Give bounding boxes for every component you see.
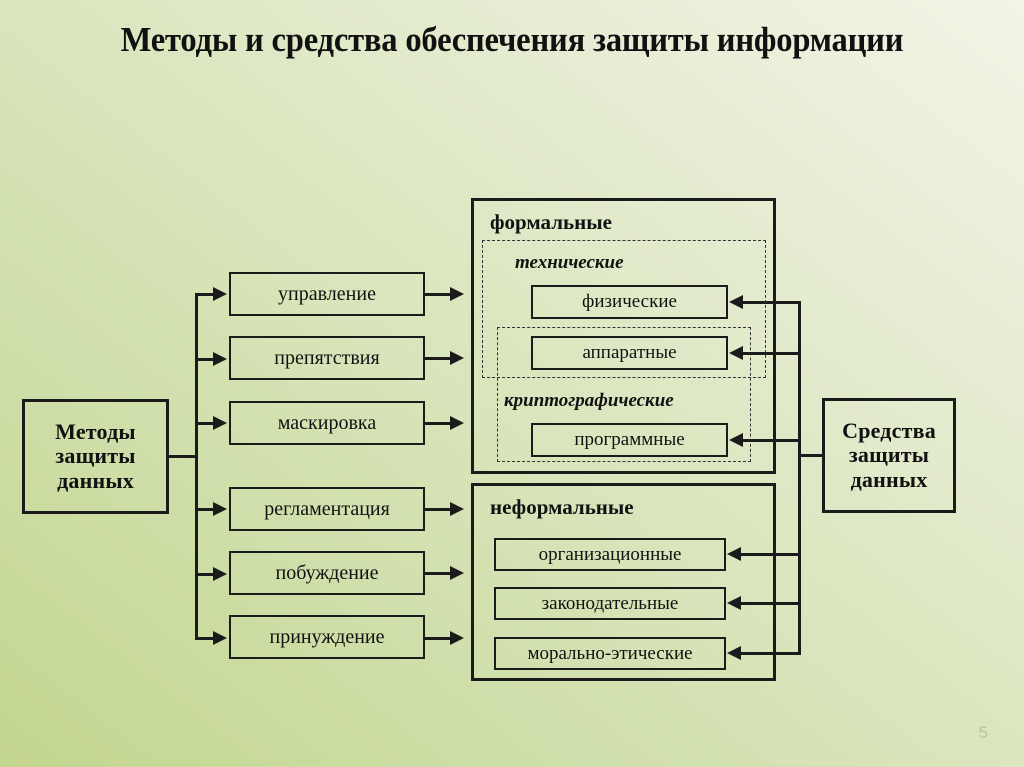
connector-right-branch-1: [742, 301, 800, 304]
arrow-right-branch-6-icon: [727, 646, 741, 660]
method-box-prepyatstviya[interactable]: препятствия: [229, 336, 425, 380]
slide-canvas: Методы и средства обеспечения защиты инф…: [0, 0, 1024, 767]
arrow-right-branch-4-icon: [727, 547, 741, 561]
connector-method-3-out: [425, 422, 453, 425]
leaf-box-moralno-eticheskie[interactable]: морально-этические: [494, 637, 726, 670]
arrow-right-branch-1-icon: [729, 295, 743, 309]
node-methods-of-data-protection[interactable]: Методы защиты данных: [22, 399, 169, 514]
connector-right-branch-3: [742, 439, 800, 442]
page-title: Методы и средства обеспечения защиты инф…: [73, 18, 951, 62]
leaf-box-zakonodatelnye[interactable]: законодательные: [494, 587, 726, 620]
connector-method-2-out: [425, 357, 453, 360]
arrow-method-1-icon: [450, 287, 464, 301]
connector-right-branch-5: [740, 602, 800, 605]
leaf-box-organizatsionnye[interactable]: организационные: [494, 538, 726, 571]
connector-left-spine: [195, 294, 198, 639]
arrow-method-6-icon: [450, 631, 464, 645]
connector-method-4-out: [425, 508, 453, 511]
leaf-label-organizatsionnye: организационные: [539, 544, 682, 566]
leaf-label-zakonodatelnye: законодательные: [542, 593, 679, 615]
subgroup-cryptographic-title: криптографические: [504, 390, 674, 412]
arrow-method-5-icon: [450, 566, 464, 580]
leaf-box-apparatnye[interactable]: аппаратные: [531, 336, 728, 370]
arrow-left-branch-4-icon: [213, 502, 227, 516]
arrow-right-branch-3-icon: [729, 433, 743, 447]
method-box-prinuzhdenie[interactable]: принуждение: [229, 615, 425, 659]
arrow-left-branch-6-icon: [213, 631, 227, 645]
page-number: 5: [979, 723, 988, 743]
connector-right-branch-4: [740, 553, 800, 556]
method-box-reglamentatsiya[interactable]: регламентация: [229, 487, 425, 531]
connector-right-branch-6: [740, 652, 800, 655]
arrow-method-4-icon: [450, 502, 464, 516]
arrow-method-3-icon: [450, 416, 464, 430]
method-label-1: управление: [278, 283, 376, 305]
node-means-line-2: защиты: [849, 443, 929, 468]
arrow-left-branch-1-icon: [213, 287, 227, 301]
method-label-6: принуждение: [270, 626, 385, 648]
connector-right-stub: [799, 454, 823, 457]
method-box-pobuzhdenie[interactable]: побуждение: [229, 551, 425, 595]
group-informal-title: неформальные: [490, 496, 634, 520]
node-means-of-data-protection[interactable]: Средства защиты данных: [822, 398, 956, 513]
method-label-5: побуждение: [275, 562, 378, 584]
leaf-label-programmnye: программные: [574, 429, 684, 451]
method-box-maskirovka[interactable]: маскировка: [229, 401, 425, 445]
leaf-label-moralno-eticheskie: морально-этические: [527, 643, 692, 665]
leaf-label-apparatnye: аппаратные: [582, 342, 676, 364]
arrow-left-branch-3-icon: [213, 416, 227, 430]
node-methods-line-3: данных: [57, 469, 134, 494]
node-methods-line-1: Методы: [55, 420, 136, 445]
arrow-right-branch-2-icon: [729, 346, 743, 360]
connector-method-5-out: [425, 572, 453, 575]
arrow-method-2-icon: [450, 351, 464, 365]
connector-right-branch-2: [742, 352, 800, 355]
arrow-left-branch-5-icon: [213, 567, 227, 581]
subgroup-technical-title: технические: [515, 252, 624, 274]
group-formal-title: формальные: [490, 211, 612, 235]
method-label-3: маскировка: [278, 412, 376, 434]
method-label-4: регламентация: [264, 498, 390, 520]
node-means-line-3: данных: [851, 468, 928, 493]
leaf-box-programmnye[interactable]: программные: [531, 423, 728, 457]
arrow-right-branch-5-icon: [727, 596, 741, 610]
node-means-line-1: Средства: [842, 419, 936, 444]
connector-method-6-out: [425, 637, 453, 640]
method-label-2: препятствия: [274, 347, 379, 369]
arrow-left-branch-2-icon: [213, 352, 227, 366]
leaf-label-fizicheskie: физические: [582, 291, 677, 313]
leaf-box-fizicheskie[interactable]: физические: [531, 285, 728, 319]
connector-left-stub: [169, 455, 198, 458]
method-box-upravlenie[interactable]: управление: [229, 272, 425, 316]
node-methods-line-2: защиты: [55, 444, 135, 469]
connector-method-1-out: [425, 293, 453, 296]
